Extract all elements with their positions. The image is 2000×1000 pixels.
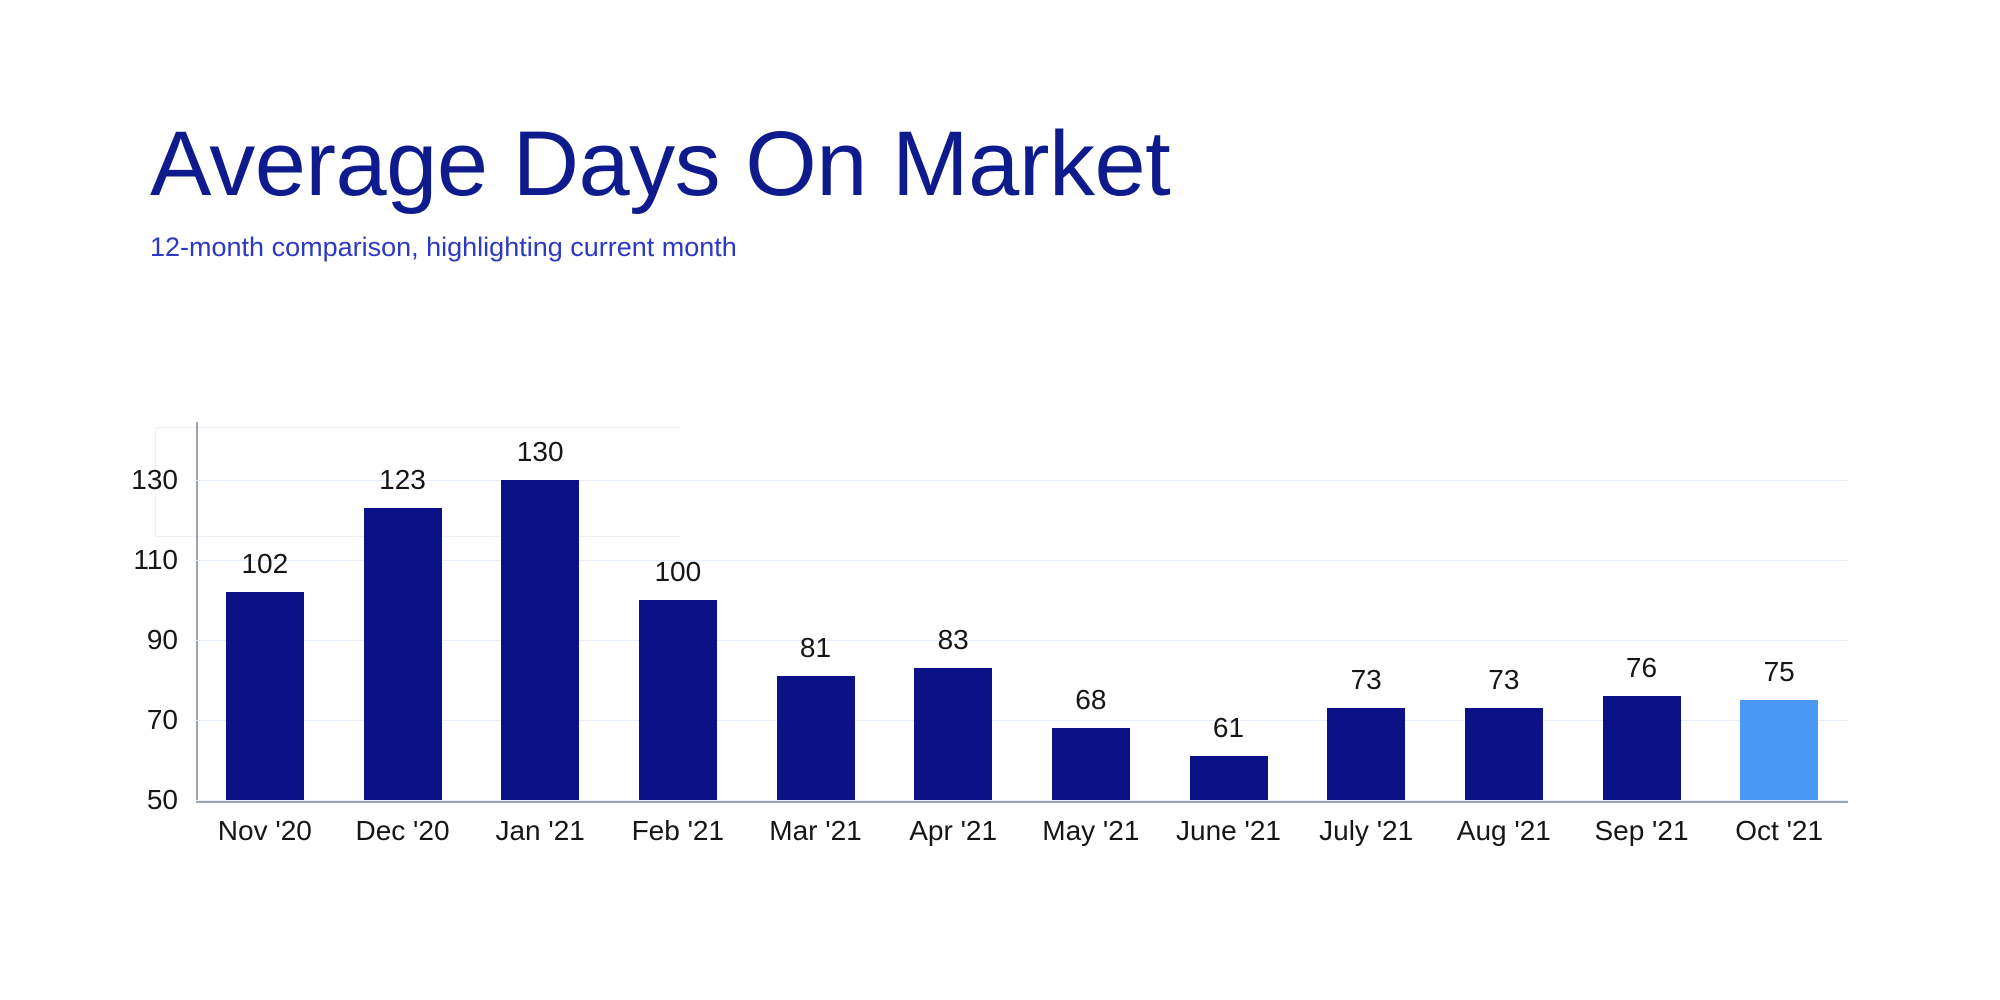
bar[interactable]: [1190, 756, 1268, 800]
gridline: [196, 560, 1848, 561]
bar-group: 61June '21: [1190, 440, 1268, 800]
bar-group: 100Feb '21: [639, 440, 717, 800]
bar[interactable]: [777, 676, 855, 800]
bar-chart: 507090110130 102Nov '20123Dec '20130Jan …: [155, 427, 1855, 847]
y-axis-tick-label: 90: [147, 624, 178, 656]
gridline: [196, 640, 1848, 641]
x-axis-tick-label: Mar '21: [769, 815, 862, 847]
y-axis-tick-label: 70: [147, 704, 178, 736]
x-axis-tick-label: Aug '21: [1457, 815, 1551, 847]
chart-header: Average Days On Market 12-month comparis…: [150, 118, 1850, 263]
bar-group: 73July '21: [1327, 440, 1405, 800]
page-title: Average Days On Market: [150, 118, 1850, 210]
bar-group: 81Mar '21: [777, 440, 855, 800]
bar-group: 83Apr '21: [914, 440, 992, 800]
bar[interactable]: [1603, 696, 1681, 800]
bar-value-label: 68: [1075, 684, 1106, 716]
y-axis-tick-label: 130: [131, 464, 178, 496]
slide-canvas: Average Days On Market 12-month comparis…: [0, 0, 2000, 1000]
bar-group: 123Dec '20: [364, 440, 442, 800]
bar-value-label: 100: [654, 556, 701, 588]
bar[interactable]: [1052, 728, 1130, 800]
chart-subtitle: 12-month comparison, highlighting curren…: [150, 232, 1850, 263]
y-axis-line: [196, 422, 198, 801]
x-axis-tick-label: Sep '21: [1594, 815, 1688, 847]
bar[interactable]: [364, 508, 442, 800]
x-axis-tick-label: May '21: [1042, 815, 1139, 847]
x-axis-tick-label: Nov '20: [218, 815, 312, 847]
x-axis-tick-label: Oct '21: [1735, 815, 1823, 847]
x-axis-tick-label: Apr '21: [909, 815, 997, 847]
x-axis-tick-label: Feb '21: [632, 815, 725, 847]
gridline: [196, 800, 1848, 801]
bar-group: 102Nov '20: [226, 440, 304, 800]
bar[interactable]: [1740, 700, 1818, 800]
plot-area: 507090110130 102Nov '20123Dec '20130Jan …: [196, 440, 1848, 800]
bar-value-label: 102: [241, 548, 288, 580]
x-axis-tick-label: Jan '21: [495, 815, 584, 847]
x-axis-tick-label: Dec '20: [355, 815, 449, 847]
bar-group: 73Aug '21: [1465, 440, 1543, 800]
bar-group: 130Jan '21: [501, 440, 579, 800]
bar-group: 75Oct '21: [1740, 440, 1818, 800]
bar-value-label: 73: [1488, 664, 1519, 696]
bar-value-label: 123: [379, 464, 426, 496]
y-axis-tick-label: 110: [133, 544, 178, 576]
x-axis-tick-label: June '21: [1176, 815, 1281, 847]
bar[interactable]: [639, 600, 717, 800]
x-axis-tick-label: July '21: [1319, 815, 1413, 847]
gridline: [196, 720, 1848, 721]
bar-value-label: 73: [1351, 664, 1382, 696]
bar-group: 76Sep '21: [1603, 440, 1681, 800]
bar[interactable]: [226, 592, 304, 800]
bar-value-label: 61: [1213, 712, 1244, 744]
bar[interactable]: [1327, 708, 1405, 800]
bar[interactable]: [914, 668, 992, 800]
bar[interactable]: [1465, 708, 1543, 800]
bar-value-label: 75: [1764, 656, 1795, 688]
bar-value-label: 81: [800, 632, 831, 664]
bar[interactable]: [501, 480, 579, 800]
bar-value-label: 76: [1626, 652, 1657, 684]
y-axis-tick-label: 50: [147, 784, 178, 816]
bar-value-label: 130: [517, 436, 564, 468]
bar-value-label: 83: [938, 624, 969, 656]
gridline: [196, 480, 1848, 481]
bar-group: 68May '21: [1052, 440, 1130, 800]
